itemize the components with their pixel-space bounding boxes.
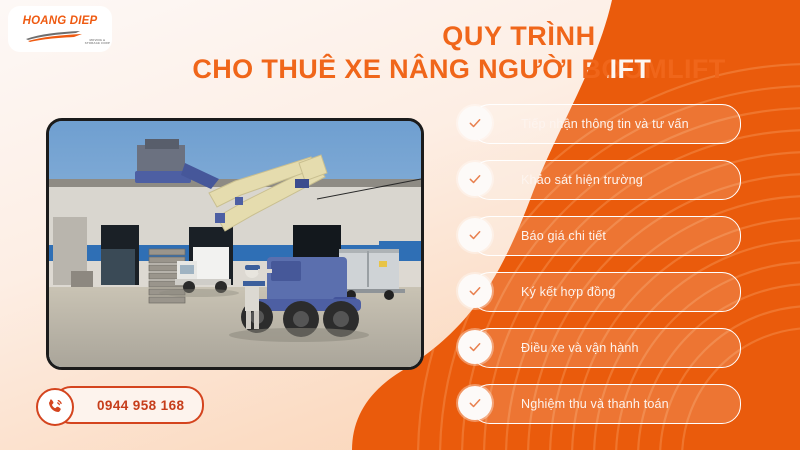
step-pill[interactable]: Tiếp nhận thông tin và tư vấn [471,104,741,144]
phone-ringing-icon [36,388,74,426]
list-item[interactable]: Khảo sát hiện trường [458,160,758,198]
step-label: Ký kết hợp đồng [521,285,616,299]
check-icon [458,218,492,252]
check-icon [458,162,492,196]
logo-tagline-line2: STORAGE CORP [85,42,110,46]
step-pill[interactable]: Điều xe và vận hành [471,328,741,368]
step-label: Tiếp nhận thông tin và tư vấn [521,117,689,131]
check-icon [458,106,492,140]
logo-tagline: MOVING & STORAGE CORP [85,39,110,46]
list-item[interactable]: Tiếp nhận thông tin và tư vấn [458,104,758,142]
step-label: Điều xe và vận hành [521,341,639,355]
process-step-list: Tiếp nhận thông tin và tư vấn Khảo sát h… [458,104,758,440]
contact-phone-badge[interactable]: 0944 958 168 [36,388,204,422]
list-item[interactable]: Nghiệm thu và thanh toán [458,384,758,422]
page-title-line2-overlay: CHO THUÊ XE NÂNG NGƯỜI BOOMLIFT [0,54,651,84]
page-title-line2-wrap: CHO THUÊ XE NÂNG NGƯỜI BOOMLIFT CHO THUÊ… [0,54,800,84]
step-label: Báo giá chi tiết [521,229,606,243]
boomlift-photo [46,118,424,370]
step-pill[interactable]: Báo giá chi tiết [471,216,741,256]
list-item[interactable]: Báo giá chi tiết [458,216,758,254]
step-pill[interactable]: Nghiệm thu và thanh toán [471,384,741,424]
step-pill[interactable]: Ký kết hợp đồng [471,272,741,312]
step-pill[interactable]: Khảo sát hiện trường [471,160,741,200]
list-item[interactable]: Điều xe và vận hành [458,328,758,366]
check-icon [458,386,492,420]
phone-number: 0944 958 168 [97,398,184,413]
page-title: QUY TRÌNH CHO THUÊ XE NÂNG NGƯỜI BOOMLIF… [0,22,800,84]
check-icon [458,274,492,308]
list-item[interactable]: Ký kết hợp đồng [458,272,758,310]
step-label: Khảo sát hiện trường [521,173,643,187]
infographic-canvas: HOANG DIEP MOVING & STORAGE CORP QUY TRÌ… [0,0,800,450]
page-title-line1: QUY TRÌNH [0,22,800,51]
company-logo[interactable]: HOANG DIEP MOVING & STORAGE CORP [8,6,112,52]
logo-wordmark: HOANG DIEP [23,16,98,28]
phone-pill[interactable]: 0944 958 168 [53,386,204,424]
step-label: Nghiệm thu và thanh toán [521,397,669,411]
check-icon [458,330,492,364]
page-title-line2: CHO THUÊ XE NÂNG NGƯỜI BOOMLIFT [192,54,725,84]
